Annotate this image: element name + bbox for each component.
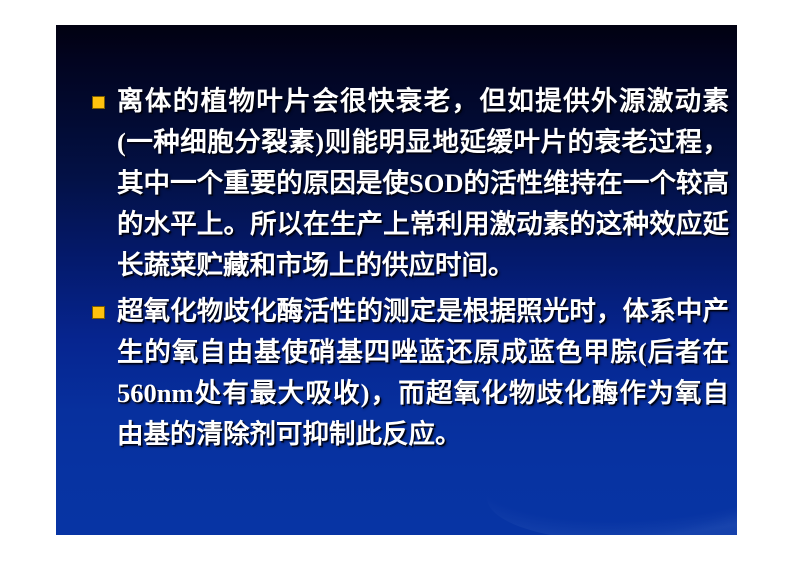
list-item[interactable]: 超氧化物歧化酶活性的测定是根据照光时，体系中产生的氧自由基使硝基四唑蓝还原成蓝色… [56, 291, 737, 455]
list-item[interactable]: 离体的植物叶片会很快衰老，但如提供外源激动素(一种细胞分裂素)则能明显地延缓叶片… [56, 81, 737, 286]
slide-page: 离体的植物叶片会很快衰老，但如提供外源激动素(一种细胞分裂素)则能明显地延缓叶片… [0, 0, 793, 561]
square-bullet-icon [92, 96, 105, 109]
bullet-paragraph-2: 超氧化物歧化酶活性的测定是根据照光时，体系中产生的氧自由基使硝基四唑蓝还原成蓝色… [117, 291, 737, 455]
slide-content-body: 离体的植物叶片会很快衰老，但如提供外源激动素(一种细胞分裂素)则能明显地延缓叶片… [56, 25, 737, 455]
square-bullet-icon [92, 306, 105, 319]
slide-canvas: 离体的植物叶片会很快衰老，但如提供外源激动素(一种细胞分裂素)则能明显地延缓叶片… [56, 25, 737, 535]
bullet-paragraph-1: 离体的植物叶片会很快衰老，但如提供外源激动素(一种细胞分裂素)则能明显地延缓叶片… [117, 81, 737, 286]
